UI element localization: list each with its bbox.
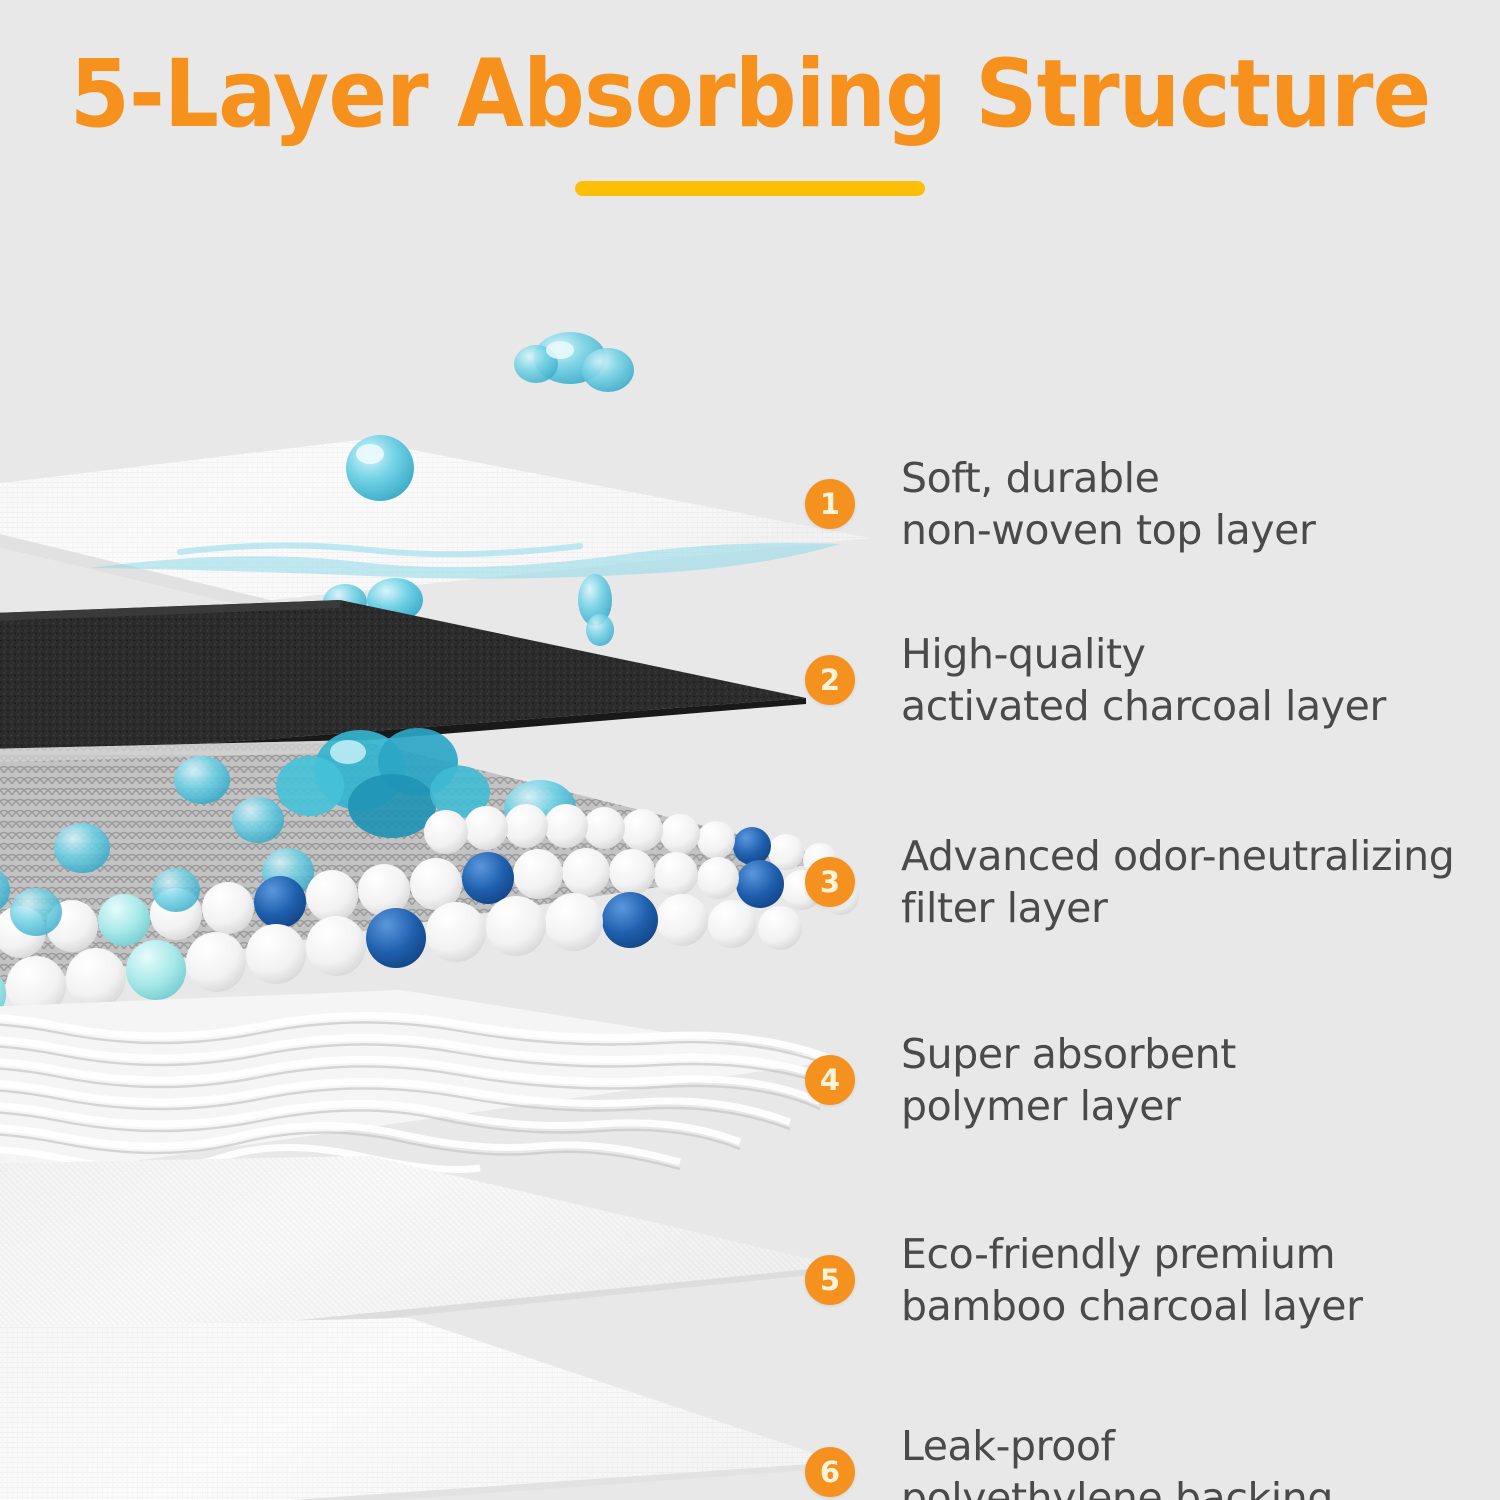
callout-badge-1: 1	[805, 479, 855, 529]
callout-badge-2: 2	[805, 655, 855, 705]
callout-badge-5: 5	[805, 1255, 855, 1305]
callout-badge-3: 3	[805, 857, 855, 907]
callout-6: 6 Leak-proof polyethylene backing	[805, 1420, 1333, 1500]
infographic-canvas: 5-Layer Absorbing Structure	[0, 0, 1500, 1500]
callout-badge-6: 6	[805, 1447, 855, 1497]
title-underline-rule	[575, 181, 925, 196]
callout-label-4: Super absorbent polymer layer	[901, 1028, 1236, 1133]
callout-5: 5 Eco-friendly premium bamboo charcoal l…	[805, 1228, 1363, 1333]
callout-1: 1 Soft, durable non-woven top layer	[805, 452, 1315, 557]
callout-label-5: Eco-friendly premium bamboo charcoal lay…	[901, 1228, 1363, 1333]
callout-label-6: Leak-proof polyethylene backing	[901, 1420, 1333, 1500]
layer-1-nonwoven-top-sheet	[0, 440, 870, 612]
callout-4: 4 Super absorbent polymer layer	[805, 1028, 1236, 1133]
callout-label-2: High-quality activated charcoal layer	[901, 628, 1386, 733]
callout-label-1: Soft, durable non-woven top layer	[901, 452, 1315, 557]
page-title: 5-Layer Absorbing Structure	[60, 46, 1440, 145]
callout-badge-4: 4	[805, 1055, 855, 1105]
callout-2: 2 High-quality activated charcoal layer	[805, 628, 1386, 733]
exploded-layer-illustration	[0, 300, 900, 1500]
layer-6-polyethylene-backing	[0, 1318, 840, 1500]
callout-3: 3 Advanced odor-neutralizing filter laye…	[805, 830, 1454, 935]
callout-label-3: Advanced odor-neutralizing filter layer	[901, 830, 1454, 935]
